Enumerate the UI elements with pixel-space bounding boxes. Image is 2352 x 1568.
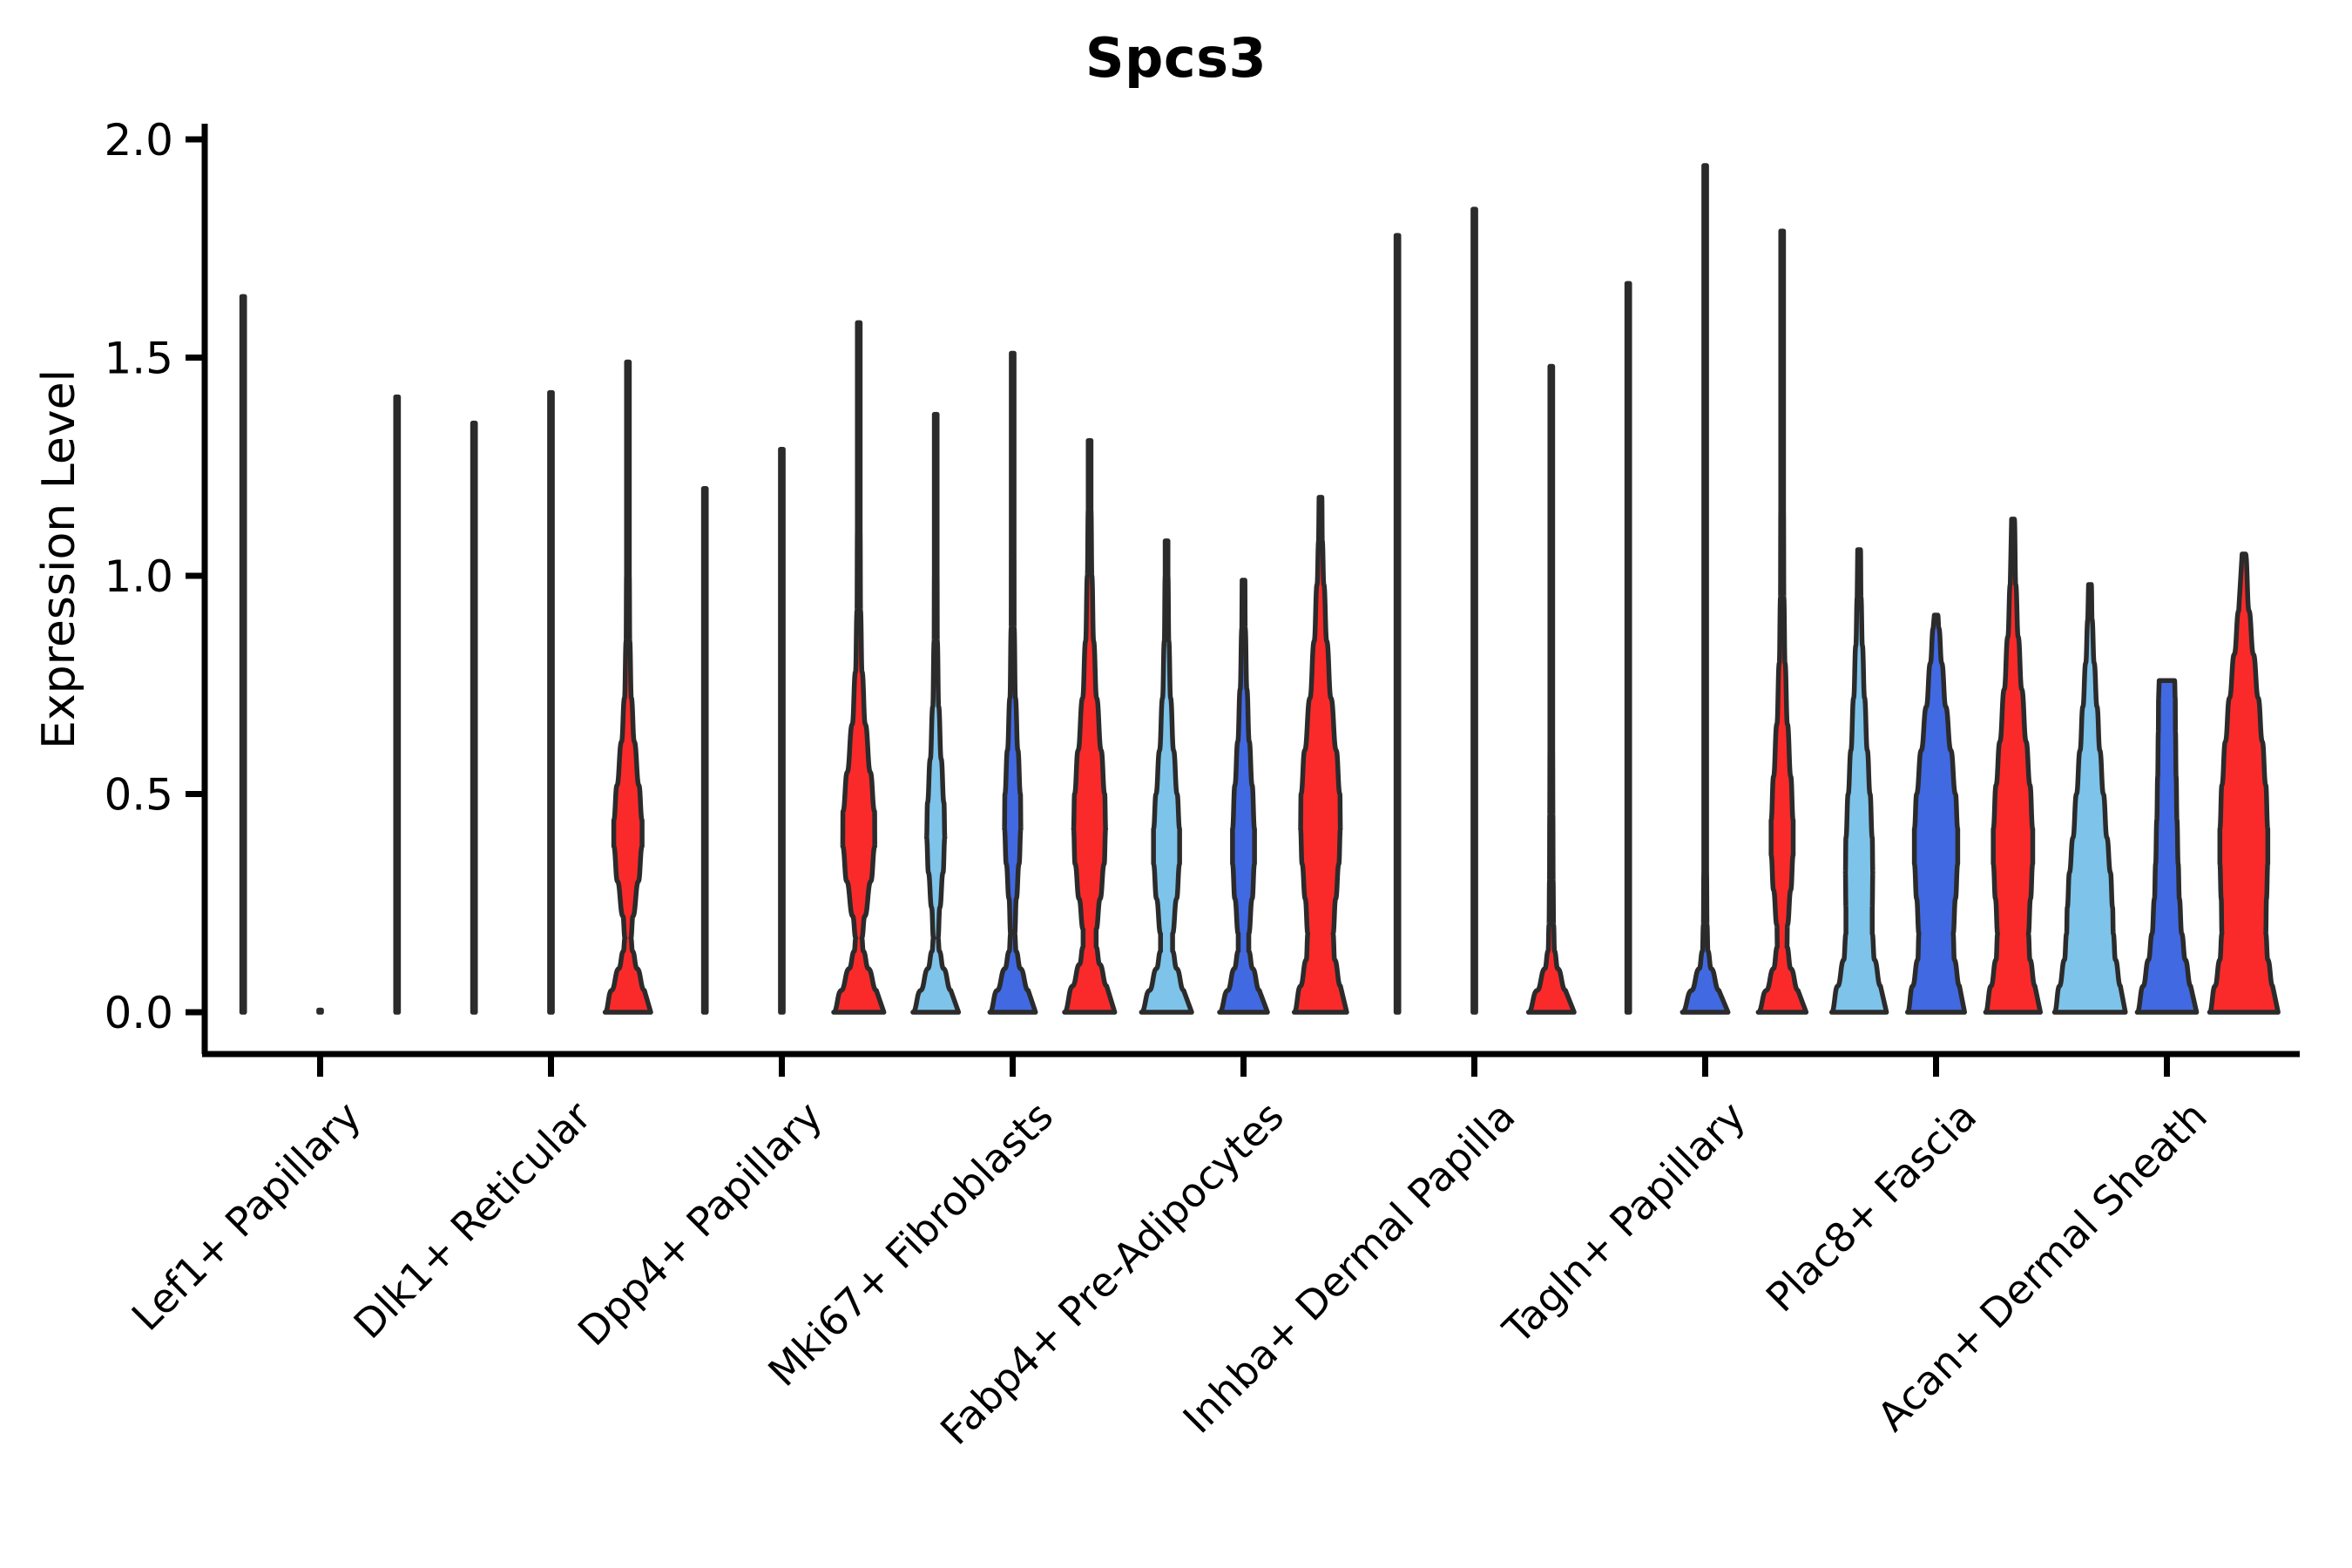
- violin-2-1: [473, 423, 476, 1012]
- violin-3-2: [781, 449, 783, 1012]
- violin-8-2: [1908, 615, 1965, 1012]
- y-tick-label-1: 0.5: [104, 770, 173, 821]
- violin-8-3: [1985, 519, 2040, 1012]
- violin-6-2: [1473, 209, 1476, 1012]
- violin-1-2: [319, 1010, 321, 1012]
- y-tick-label-0: 0.0: [104, 988, 173, 1038]
- violin-7-1: [1627, 283, 1630, 1012]
- violin-2-3: [605, 362, 651, 1012]
- violin-4-1: [913, 415, 958, 1012]
- y-tick-label-3: 1.5: [104, 334, 173, 384]
- y-tick-label-4: 2.0: [104, 115, 173, 166]
- violin-9-2: [2137, 680, 2196, 1012]
- violin-1-1: [242, 296, 245, 1012]
- violin-9-1: [2055, 585, 2126, 1012]
- violin-9-3: [2210, 554, 2279, 1012]
- violin-3-3: [834, 322, 884, 1012]
- violin-5-1: [1141, 541, 1192, 1012]
- violin-5-3: [1294, 497, 1347, 1012]
- violin-5-2: [1220, 580, 1267, 1012]
- y-tick-label-2: 1.0: [104, 551, 173, 602]
- violin-7-3: [1758, 231, 1806, 1012]
- violin-6-3: [1529, 367, 1574, 1012]
- violin-6-1: [1396, 235, 1399, 1012]
- violin-1-3: [395, 397, 398, 1012]
- violin-3-1: [704, 489, 706, 1012]
- violin-4-2: [990, 353, 1035, 1012]
- violin-7-2: [1682, 166, 1727, 1012]
- violin-plot-figure: Spcs3 Expression Level 0.00.51.01.52.0 L…: [0, 0, 2352, 1568]
- axis-layer: 0.00.51.01.52.0: [104, 115, 2300, 1077]
- violin-layer: [242, 166, 2279, 1012]
- violin-4-3: [1064, 441, 1115, 1012]
- violin-8-1: [1832, 550, 1887, 1012]
- violin-2-2: [550, 393, 552, 1012]
